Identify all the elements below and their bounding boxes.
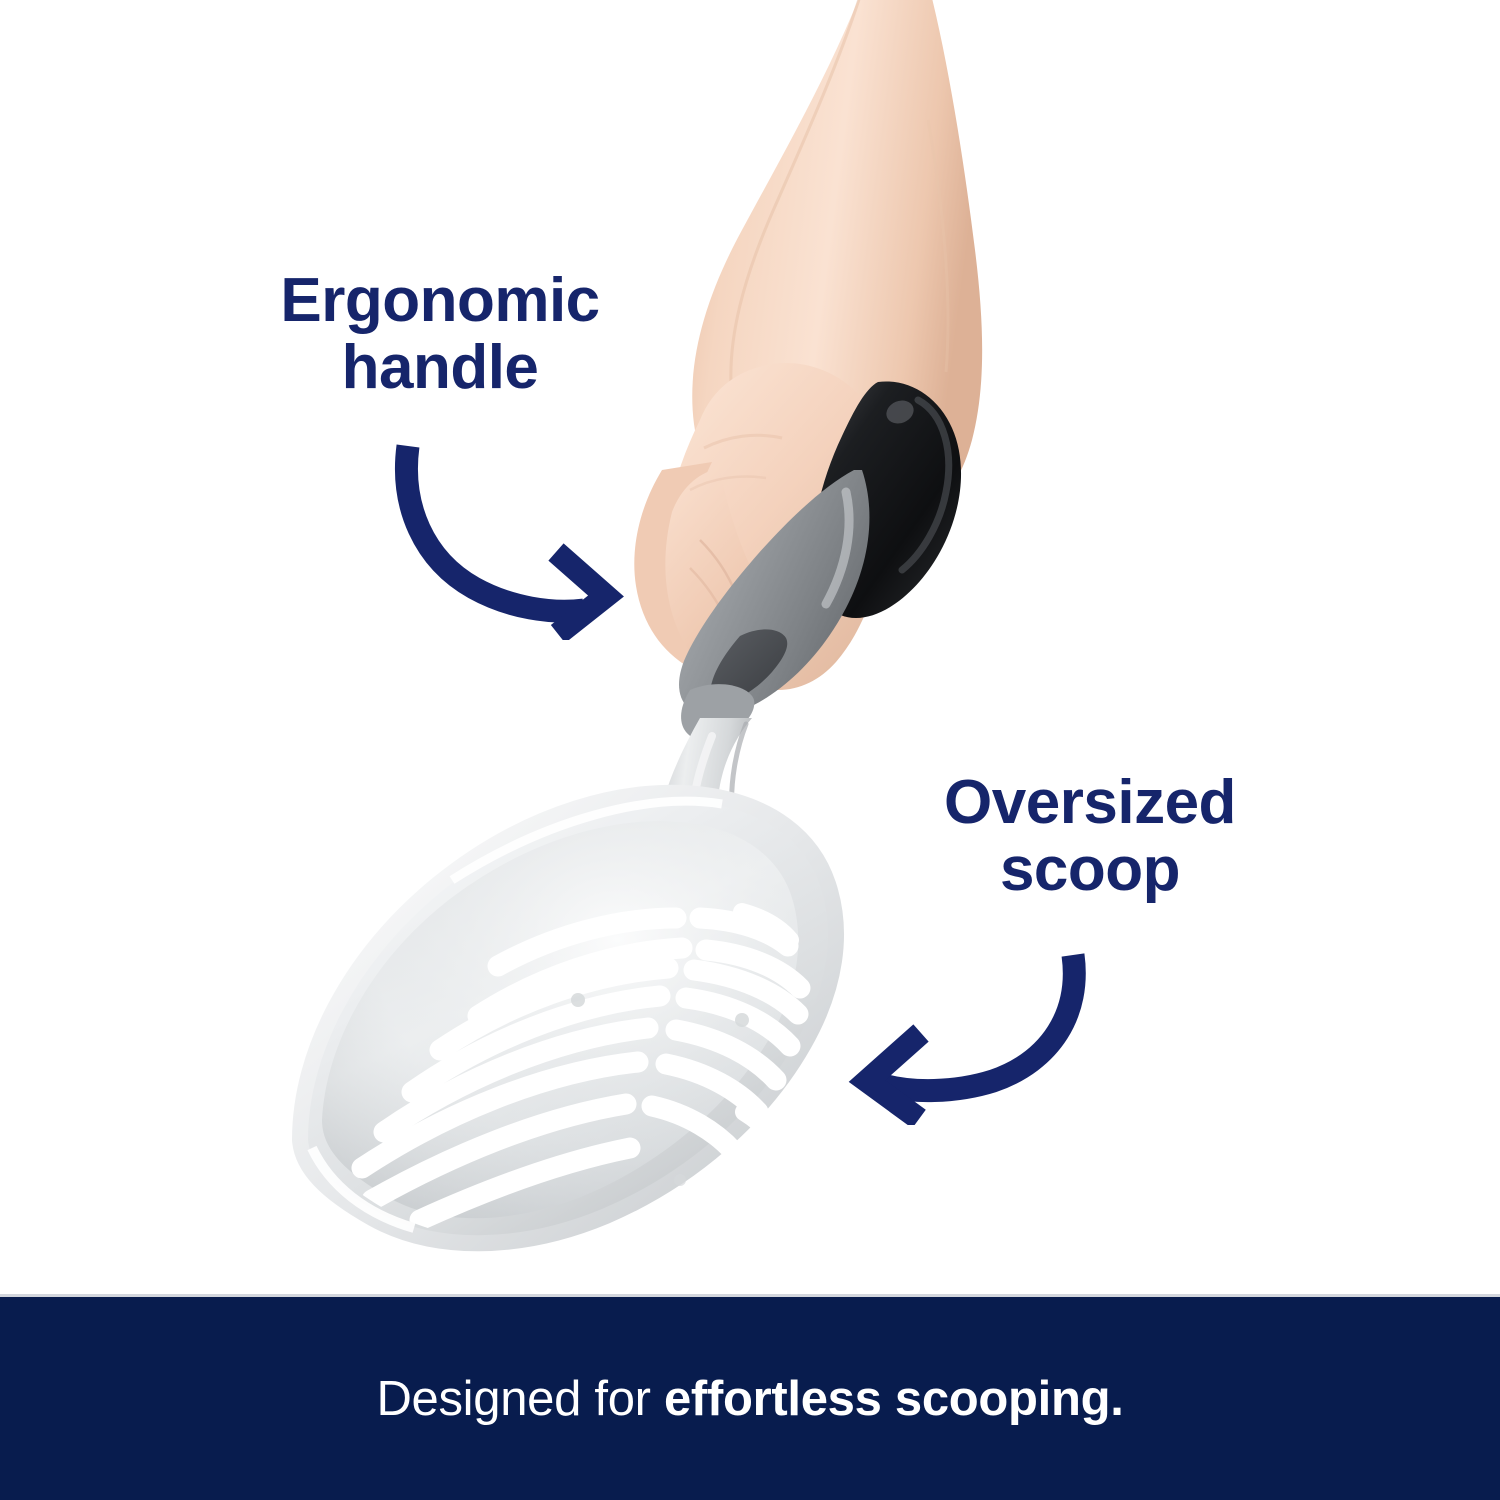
curved-arrow-down-right-icon: [370, 420, 640, 640]
bottom-banner: Designed for effortless scooping.: [0, 1297, 1500, 1500]
callout-label-oversized-scoop: Oversized scoop: [860, 770, 1320, 904]
curved-arrow-down-left-icon: [845, 935, 1105, 1125]
callout-label-ergonomic-handle: Ergonomic handle: [200, 268, 680, 402]
banner-tagline-prefix: Designed for: [376, 1372, 664, 1426]
banner-tagline-emphasis: effortless scooping.: [664, 1372, 1124, 1426]
product-photo: [0, 0, 1500, 1500]
scoop-bowl: [300, 793, 836, 1243]
infographic-canvas: Ergonomic handle Oversized scoop Designe…: [0, 0, 1500, 1500]
banner-tagline: Designed for effortless scooping.: [376, 1371, 1123, 1427]
